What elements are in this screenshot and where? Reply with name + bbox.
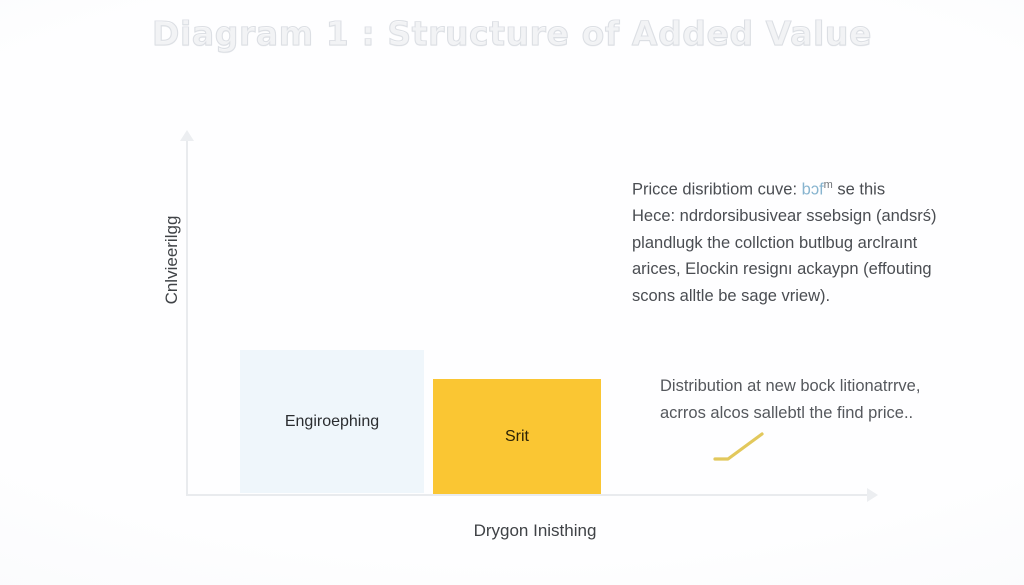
note-line-1: Pricce disribtiom cuve: bɔfm se this — [632, 172, 982, 203]
bar-label-engiroephing: Engiroephing — [285, 413, 379, 431]
bar-srit: Srit — [433, 379, 601, 494]
x-axis-line — [186, 494, 871, 496]
y-axis-line — [186, 137, 188, 495]
distribution-note-line-1: Distribution at new bock litionatrrve, — [660, 373, 990, 400]
chart-title: Diagram 1 : Structure of Added Value — [0, 14, 1024, 53]
price-distribution-note: Pricce disribtiom cuve: bɔfm se this Hec… — [632, 172, 982, 309]
distribution-note: Distribution at new bock litionatrrve, a… — [660, 373, 990, 426]
note-line-1-before: Pricce disribtiom cuve: — [632, 181, 802, 199]
note-line-2: Hece: ndrdorsibusivear ssebsign (andsrś) — [632, 203, 982, 230]
x-axis-label: Drygon Inisthing — [350, 521, 720, 541]
note-line-4: arices, Elockin resignı ackaypn (effouti… — [632, 256, 982, 283]
note-line-1-highlight: bɔf — [802, 181, 824, 199]
y-axis-arrowhead-icon — [180, 130, 194, 141]
y-axis-label: Cnlvieerilgg — [162, 180, 182, 340]
trend-line-icon — [712, 428, 774, 470]
note-line-3: plandlugk the collction butlbug arclraın… — [632, 230, 982, 257]
note-line-1-after: se this — [833, 181, 885, 199]
note-line-5: scons alltle be sage vriew). — [632, 283, 982, 310]
chart-canvas: Diagram 1 : Structure of Added Value Cnl… — [0, 0, 1024, 585]
x-axis-arrowhead-icon — [867, 488, 878, 502]
distribution-note-line-2: acrros alcos sallebtl the find price.. — [660, 400, 990, 427]
note-line-1-superscript: m — [824, 179, 833, 191]
bar-label-srit: Srit — [505, 428, 529, 446]
bar-engiroephing: Engiroephing — [240, 350, 424, 493]
